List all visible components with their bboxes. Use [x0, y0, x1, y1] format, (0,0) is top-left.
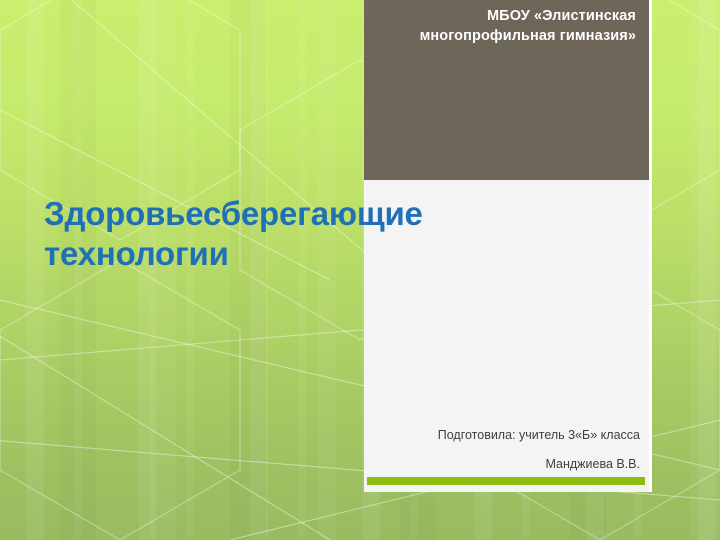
institution-line-1: МБОУ «Элистинская [487, 8, 636, 24]
author-name-line: Манджиева В.В. [380, 450, 640, 479]
institution-header-text: МБОУ «Элистинская многопрофильная гимназ… [378, 6, 636, 46]
slide-title: Здоровьесберегающие технологии [44, 194, 644, 274]
institution-line-2: многопрофильная [420, 28, 556, 44]
presentation-slide: МБОУ «Элистинская многопрофильная гимназ… [0, 0, 720, 540]
institution-line-3: гимназия» [560, 28, 636, 44]
accent-bar [367, 477, 645, 485]
slide-title-line-1: Здоровьесберегающие [44, 194, 644, 234]
slide-title-line-2: технологии [44, 234, 644, 274]
author-role-line: Подготовила: учитель 3«Б» класса [380, 421, 640, 450]
slide-subtitle: Подготовила: учитель 3«Б» класса Манджие… [380, 421, 640, 479]
